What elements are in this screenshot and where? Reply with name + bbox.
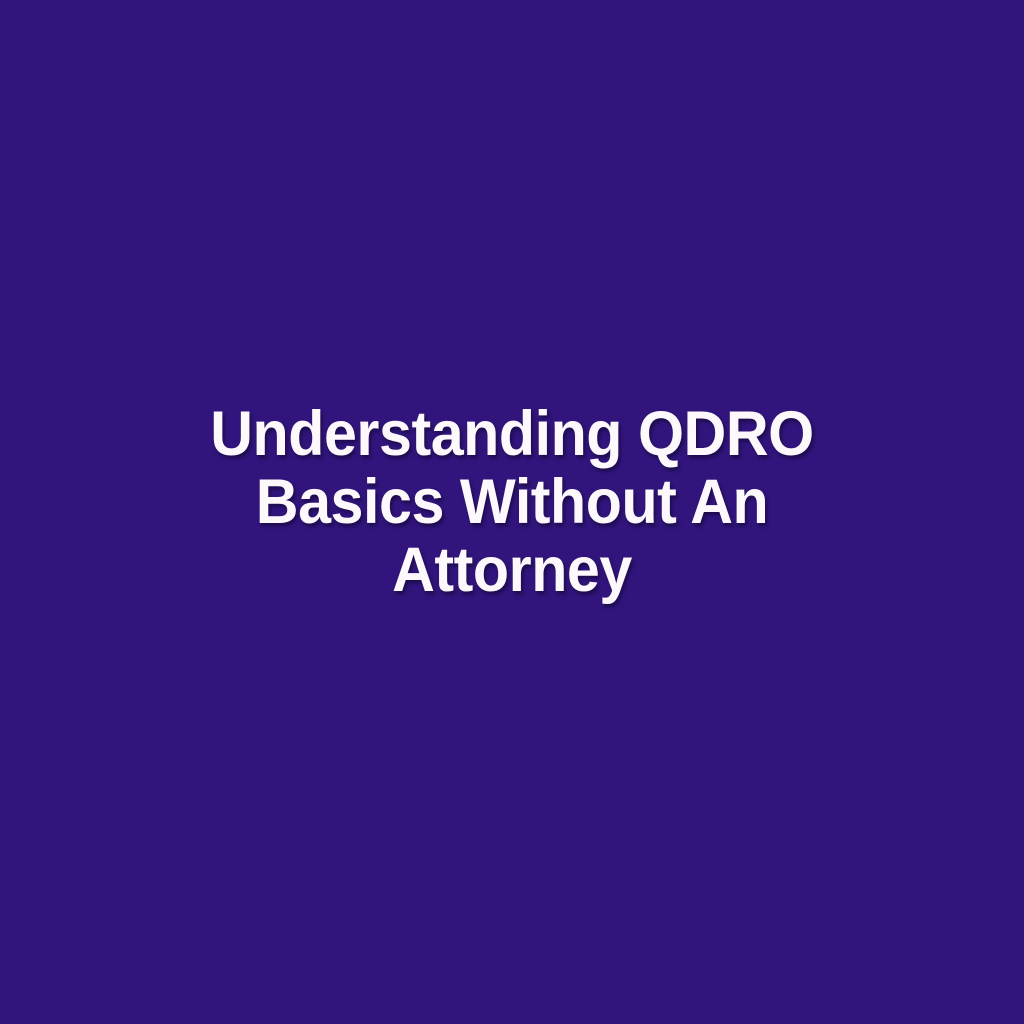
title-line-2: Basics Without An [155, 468, 869, 536]
page-title: Understanding QDRO Basics Without An Att… [132, 400, 892, 604]
title-line-1: Understanding QDRO [155, 400, 869, 468]
title-banner: Understanding QDRO Basics Without An Att… [0, 0, 1024, 1024]
title-line-3: Attorney [155, 536, 869, 604]
